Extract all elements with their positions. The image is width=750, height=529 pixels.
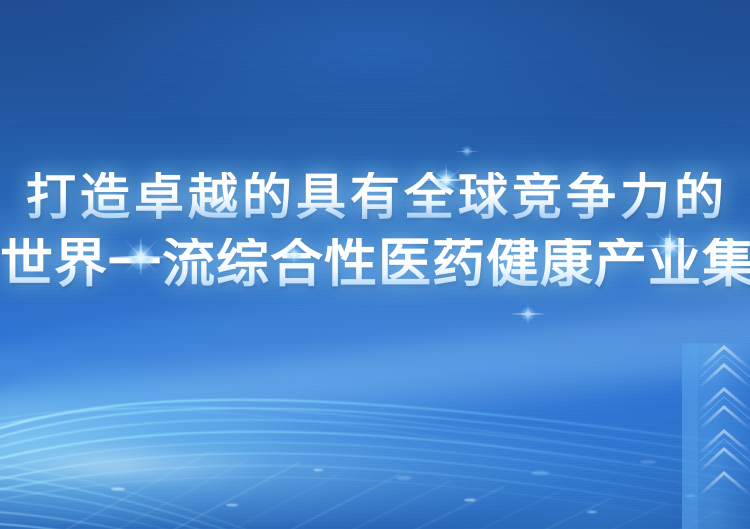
hero-title-line-2: 世界一流综合性医药健康产业集团	[0, 238, 750, 291]
hero-banner: 打造卓越的具有全球竞争力的 世界一流综合性医药健康产业集团	[0, 0, 750, 529]
hero-title: 打造卓越的具有全球竞争力的 世界一流综合性医药健康产业集团	[0, 172, 750, 291]
hero-title-line-1: 打造卓越的具有全球竞争力的	[0, 172, 750, 222]
chevron-tower-icon	[664, 329, 750, 529]
